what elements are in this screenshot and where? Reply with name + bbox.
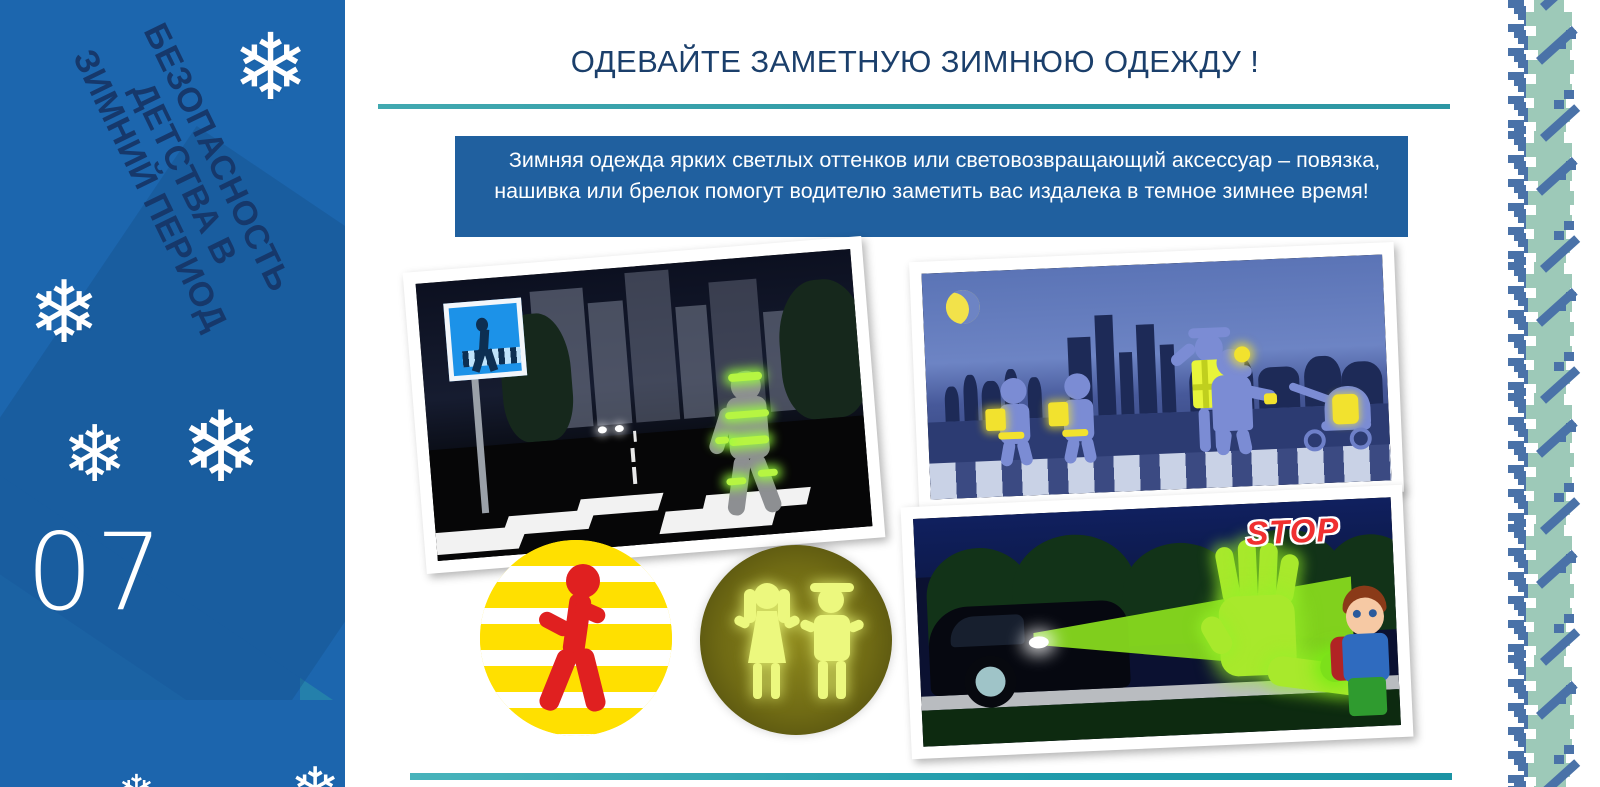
snowflake-icon: ❄ — [28, 270, 100, 356]
ornament-accent-dot — [1566, 161, 1576, 170]
ornament-accent-dot — [1564, 352, 1574, 361]
reflective-tag — [1234, 346, 1251, 363]
ornament-accent-dot — [1556, 695, 1566, 704]
tree — [774, 276, 872, 422]
glowing-children-badge — [700, 545, 892, 735]
reflective-pedestrian — [707, 368, 793, 521]
boy-jacket — [1342, 633, 1390, 683]
boy-face — [1345, 597, 1385, 637]
adult-leg — [1216, 429, 1232, 456]
slide: ❄ ❄ ❄ ❄ ❄ ❄ БЕЗОПАСНОСТЬ ДЕТСТВА В ЗИМНИ… — [0, 0, 1600, 787]
ornament-accent-dot — [1564, 745, 1574, 754]
tree-silhouette — [945, 386, 960, 422]
stroller-wheel — [1304, 429, 1327, 452]
reflective-backpack — [985, 409, 1006, 432]
ornament-accent-dot — [1554, 755, 1564, 764]
callout-box: Зимняя одежда ярких светлых оттенков или… — [455, 136, 1408, 237]
pedestrian-leg — [573, 647, 608, 714]
boy-leg — [818, 661, 828, 699]
stroller — [1282, 383, 1377, 453]
ornament-accent-dot — [1556, 171, 1566, 180]
child-leg — [1081, 436, 1098, 464]
ornament-accent-dot — [1566, 423, 1576, 432]
reflective-band — [1264, 393, 1277, 405]
stroller-wheel — [1349, 427, 1372, 450]
boy-figure-icon — [800, 583, 864, 701]
stop-hand-photo: STOP — [901, 485, 1414, 760]
child-leg — [1000, 440, 1016, 468]
tree-silhouette — [963, 375, 979, 421]
sidebar: ❄ ❄ ❄ ❄ ❄ ❄ БЕЗОПАСНОСТЬ ДЕТСТВА В ЗИМНИ… — [0, 0, 345, 787]
reflective-strip — [757, 469, 777, 478]
snowflake-icon: ❄ — [232, 22, 309, 114]
ornament-accent-dot — [1564, 90, 1574, 99]
page-title: ОДЕВАЙТЕ ЗАМЕТНУЮ ЗИМНЮЮ ОДЕЖДУ ! — [380, 44, 1450, 80]
bottom-divider — [410, 773, 1452, 780]
ornament-accent-dot — [1556, 564, 1566, 573]
ornament-accent-dot — [1566, 685, 1576, 694]
girl-leg — [753, 663, 762, 699]
boy-leg — [836, 661, 846, 699]
title-divider — [378, 104, 1450, 109]
guard-cap — [1188, 327, 1230, 339]
child-leg — [1064, 437, 1081, 465]
snowflake-icon: ❄ — [290, 760, 340, 787]
pedestrian-leg — [746, 453, 783, 515]
ornament-accent-dot — [1554, 493, 1564, 502]
pedestrian-crossing-sign-icon — [443, 298, 527, 382]
ornament-accent-dot — [1564, 221, 1574, 230]
snowflake-icon: ❄ — [118, 770, 155, 787]
night-crosswalk-photo — [403, 236, 886, 574]
ornament-accent-dot — [1554, 362, 1564, 371]
headlight-source — [1028, 635, 1049, 648]
ornament-accent-dot — [1566, 554, 1576, 563]
child-with-reflector — [1050, 372, 1112, 462]
child-head — [1064, 373, 1091, 400]
snowflake-icon: ❄ — [62, 415, 127, 493]
pedestrian-body — [725, 396, 770, 461]
girl-head — [754, 583, 780, 609]
car-window — [949, 614, 1024, 647]
boy-with-backpack — [1325, 584, 1401, 723]
pedestrian-head — [566, 564, 600, 598]
reflective-teddy-icon — [1332, 394, 1359, 425]
reflective-strip — [714, 437, 729, 445]
child-leg — [1016, 439, 1034, 467]
pedestrian-stripe-badge — [480, 540, 672, 736]
child-with-reflector — [986, 377, 1048, 465]
ornament-accent-dot — [1556, 40, 1566, 49]
boy-pants — [1348, 677, 1388, 717]
pedestrian-leg — [537, 647, 580, 714]
ornament-accent-dot — [1566, 30, 1576, 39]
ornament-accent-dot — [1554, 100, 1564, 109]
reflective-backpack — [1048, 402, 1069, 427]
pedestrian-leg — [727, 455, 752, 517]
night-illustration-image — [921, 254, 1391, 499]
child-head — [1000, 378, 1027, 405]
ornament-accent-dot — [1556, 433, 1566, 442]
ornament-accent-dot — [1566, 292, 1576, 301]
building-silhouette — [1119, 352, 1135, 415]
glowing-stop-hand-icon — [1203, 537, 1318, 692]
ornament-accent-dot — [1564, 483, 1574, 492]
stop-label: STOP — [1245, 511, 1340, 553]
boy-cap — [810, 583, 854, 592]
ornament-accent-dot — [1556, 302, 1566, 311]
stop-hand-image: STOP — [913, 497, 1401, 746]
night-crosswalk-image — [416, 249, 873, 561]
building-silhouette — [1136, 324, 1158, 414]
adult-leg — [1235, 428, 1253, 456]
ornament-accent-dot — [1564, 614, 1574, 623]
adult-with-stroller — [1200, 348, 1270, 457]
girl-leg — [771, 663, 780, 699]
slide-number: 07 — [26, 520, 165, 626]
girl-figure-icon — [734, 583, 798, 701]
adult-coat — [1211, 374, 1253, 432]
red-pedestrian-icon — [532, 564, 626, 714]
folk-border-ornament — [1478, 0, 1600, 787]
callout-text: Зимняя одежда ярких светлых оттенков или… — [469, 145, 1394, 206]
ornament-accent-dot — [1554, 231, 1564, 240]
ornament-accent-dot — [1554, 624, 1564, 633]
night-illustration-photo — [909, 242, 1404, 512]
snowflake-icon: ❄ — [180, 398, 262, 496]
boy-shirt — [814, 615, 850, 661]
